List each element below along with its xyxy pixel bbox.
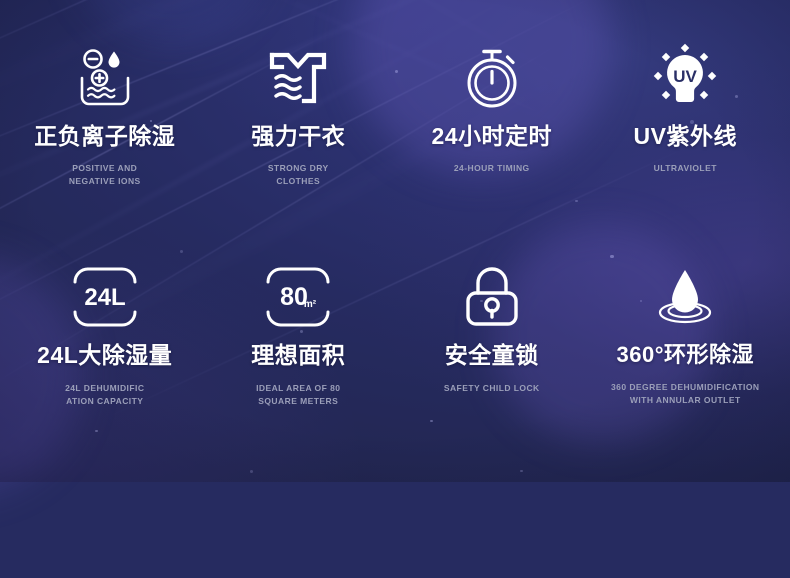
feature-title: 正负离子除湿 xyxy=(34,125,175,148)
feature-subtitle: 24L DEHUMIDIFIC ATION CAPACITY xyxy=(65,382,144,408)
feature-card-dry-clothes: 强力干衣 STRONG DRY CLOTHES xyxy=(202,26,396,245)
feature-card-area: 80 m² 理想面积 IDEAL AREA OF 80 SQUARE METER… xyxy=(202,245,396,464)
feature-subtitle: 24-HOUR TIMING xyxy=(454,162,530,175)
feature-title: 24小时定时 xyxy=(431,125,552,148)
feature-title: 安全童锁 xyxy=(445,344,539,367)
feature-card-timing: 24小时定时 24-HOUR TIMING xyxy=(395,26,589,245)
feature-title: UV紫外线 xyxy=(634,125,737,148)
feature-subtitle: ULTRAVIOLET xyxy=(654,162,717,175)
capacity-icon-label: 24L xyxy=(84,284,125,311)
feature-title: 360°环形除湿 xyxy=(616,344,754,366)
capacity-bracket-icon: 24L xyxy=(72,259,138,335)
feature-subtitle: SAFETY CHILD LOCK xyxy=(444,382,540,395)
stopwatch-icon xyxy=(463,40,521,116)
feature-subtitle: 360 DEGREE DEHUMIDIFICATION WITH ANNULAR… xyxy=(611,381,759,407)
feature-card-ions: 正负离子除湿 POSITIVE AND NEGATIVE IONS xyxy=(8,26,202,245)
feature-card-uv: UV UV紫外线 ULTRAVIOLET xyxy=(589,26,783,245)
feature-title: 理想面积 xyxy=(251,344,345,367)
padlock-icon xyxy=(464,259,520,335)
feature-card-360-dehumidify: 360°环形除湿 360 DEGREE DEHUMIDIFICATION WIT… xyxy=(589,245,783,464)
feature-card-child-lock: 安全童锁 SAFETY CHILD LOCK xyxy=(395,245,589,464)
feature-subtitle: POSITIVE AND NEGATIVE IONS xyxy=(69,162,141,188)
area-bracket-icon: 80 m² xyxy=(265,259,331,335)
feature-subtitle: IDEAL AREA OF 80 SQUARE METERS xyxy=(256,382,340,408)
tshirt-dry-icon xyxy=(268,40,328,116)
water-drop-ripple-icon xyxy=(652,259,718,335)
ion-water-tank-icon xyxy=(75,40,135,116)
feature-title: 强力干衣 xyxy=(251,125,345,148)
uv-bulb-icon: UV xyxy=(652,40,718,116)
uv-icon-label: UV xyxy=(673,67,697,86)
feature-subtitle: STRONG DRY CLOTHES xyxy=(268,162,329,188)
feature-grid: 正负离子除湿 POSITIVE AND NEGATIVE IONS 强力干衣 S… xyxy=(0,0,790,482)
feature-title: 24L大除湿量 xyxy=(37,344,172,367)
area-icon-label-unit: m² xyxy=(304,299,317,310)
feature-card-capacity: 24L 24L大除湿量 24L DEHUMIDIFIC ATION CAPACI… xyxy=(8,245,202,464)
